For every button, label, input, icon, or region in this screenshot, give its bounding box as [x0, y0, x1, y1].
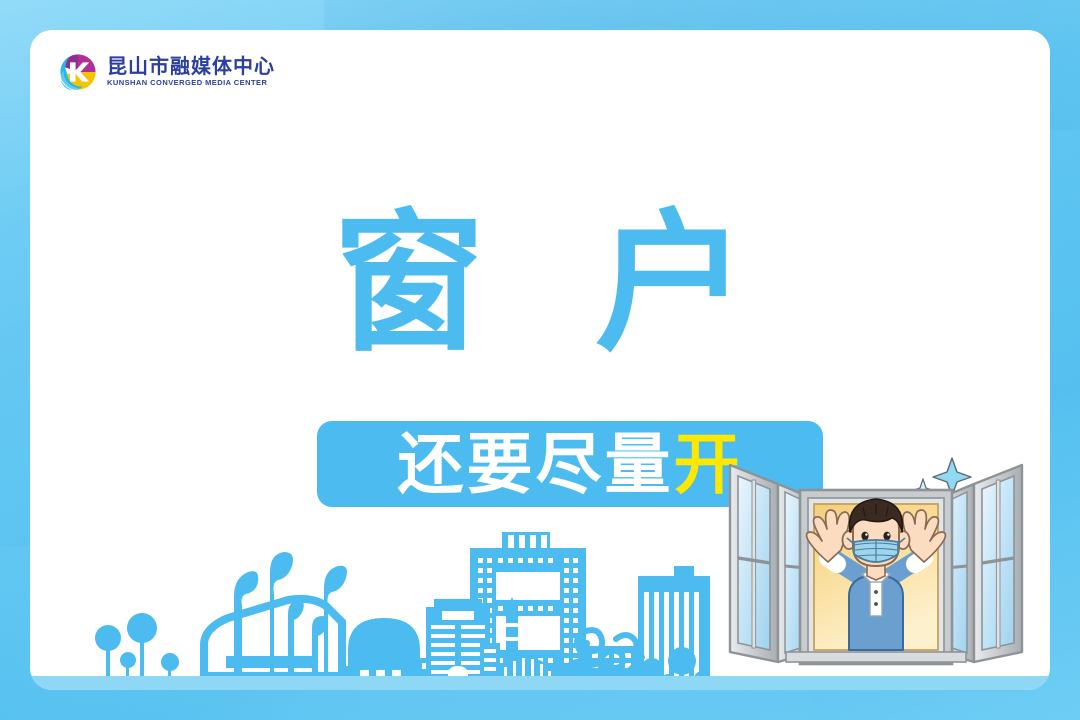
poster-card: 昆山市融媒体中心 KUNSHAN CONVERGED MEDIA CENTER … — [30, 30, 1050, 690]
brand-logo-text: 昆山市融媒体中心 KUNSHAN CONVERGED MEDIA CENTER — [107, 57, 275, 87]
brand-name-cn: 昆山市融媒体中心 — [107, 57, 275, 78]
subtitle-text: 还要尽量开 — [398, 431, 743, 497]
page-title: 窗 户 — [30, 198, 1050, 373]
person-opening-window-illustration — [716, 446, 1036, 676]
window-panel-right — [974, 465, 1022, 662]
window-panel-left — [730, 465, 778, 662]
subtitle-text-main: 还要尽量 — [398, 427, 674, 501]
skyline-trees-left — [95, 613, 179, 676]
kunshan-skyline-right — [420, 555, 710, 690]
skyline-ground-strip — [30, 676, 1050, 690]
brand-logo: 昆山市融媒体中心 KUNSHAN CONVERGED MEDIA CENTER — [58, 52, 275, 92]
media-center-logo-icon — [58, 52, 98, 92]
brand-name-en: KUNSHAN CONVERGED MEDIA CENTER — [107, 79, 275, 87]
